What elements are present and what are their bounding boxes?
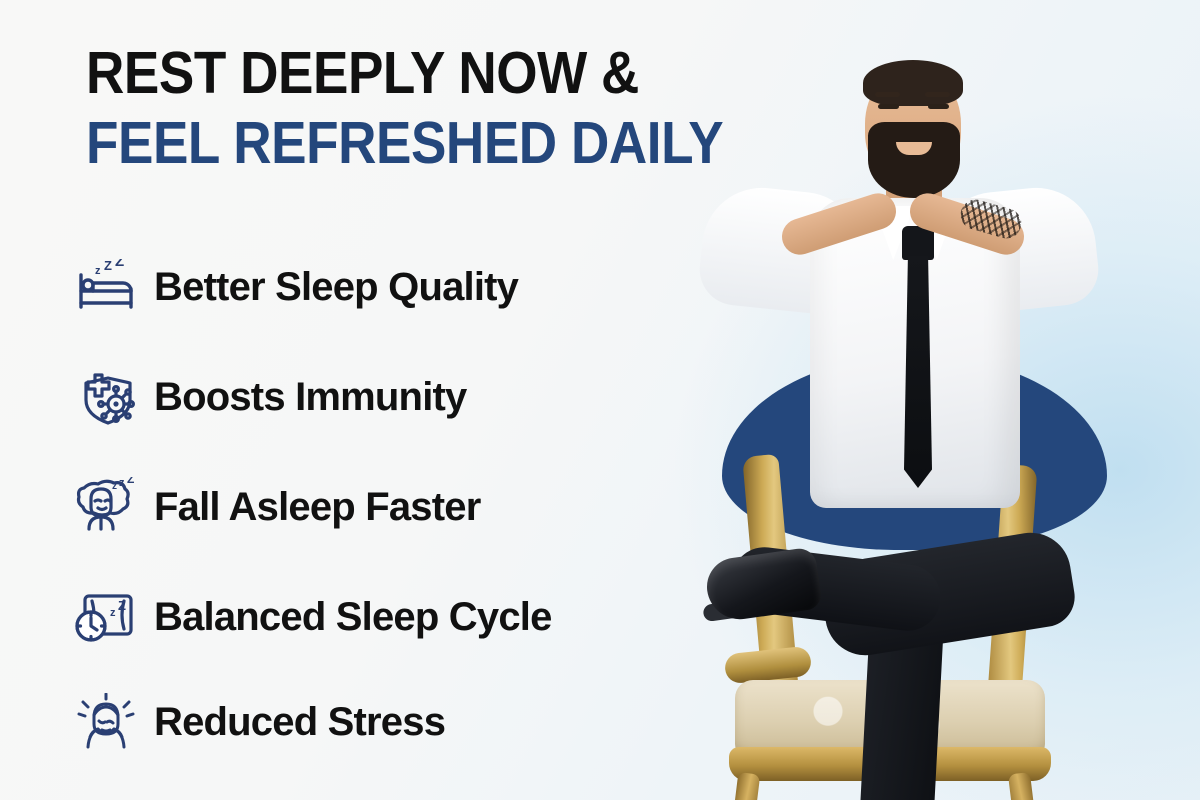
benefit-label: Better Sleep Quality bbox=[154, 267, 518, 307]
hair bbox=[863, 60, 963, 106]
svg-text:Z: Z bbox=[118, 598, 126, 613]
eyebrow-left bbox=[875, 92, 900, 97]
benefit-label: Reduced Stress bbox=[154, 702, 445, 742]
bed-sleep-icon: z Z Z bbox=[74, 255, 138, 319]
legs bbox=[715, 460, 1155, 790]
person-pillow-sleep-icon: z z Z bbox=[74, 475, 138, 539]
svg-text:Z: Z bbox=[104, 259, 112, 273]
shield-virus-icon bbox=[74, 365, 138, 429]
svg-text:z: z bbox=[95, 265, 101, 277]
eye-left-closed bbox=[878, 104, 899, 109]
eye-right-closed bbox=[928, 104, 949, 109]
eyebrow-right bbox=[925, 92, 950, 97]
svg-text:z: z bbox=[110, 607, 116, 619]
pillow-clock-icon: z Z bbox=[74, 585, 138, 649]
black-tie bbox=[904, 256, 932, 488]
relaxed-man bbox=[660, 30, 1140, 730]
beard bbox=[868, 122, 960, 198]
svg-text:z: z bbox=[112, 481, 117, 492]
benefit-label: Boosts Immunity bbox=[154, 377, 466, 417]
tie-knot bbox=[902, 226, 934, 260]
svg-text:Z: Z bbox=[115, 259, 124, 270]
hero-photo bbox=[600, 0, 1200, 800]
benefit-label: Balanced Sleep Cycle bbox=[154, 597, 552, 637]
svg-text:z: z bbox=[119, 477, 125, 489]
svg-text:Z: Z bbox=[127, 477, 134, 486]
promo-banner: REST DEEPLY NOW & FEEL REFRESHED DAILY z… bbox=[0, 0, 1200, 800]
stressed-person-icon bbox=[74, 690, 138, 754]
benefit-label: Fall Asleep Faster bbox=[154, 487, 480, 527]
